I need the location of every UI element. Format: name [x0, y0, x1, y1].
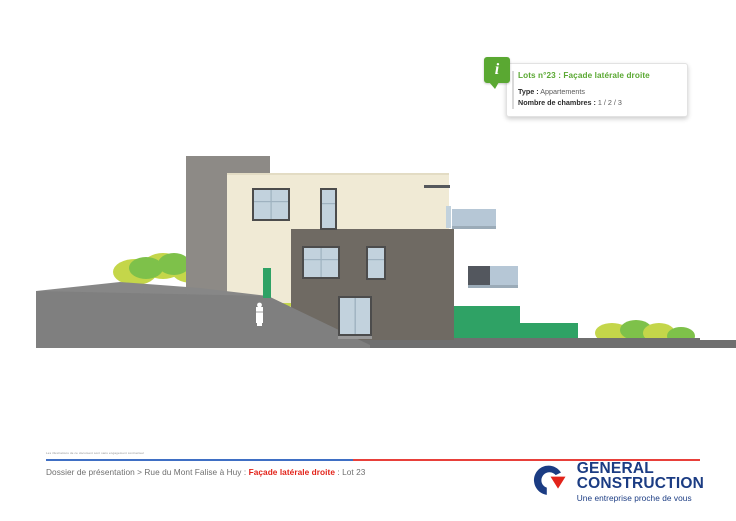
window-mid-right [366, 246, 386, 280]
page-footer: Les illustrations de ce document sont sa… [0, 443, 736, 521]
info-callout[interactable]: i Lots n°23 : Façade latérale droite Typ… [484, 57, 688, 117]
callout-row-type-label: Type : [518, 87, 539, 96]
window-upper-left [252, 188, 290, 221]
breadcrumb-highlight: Façade latérale droite [249, 467, 335, 477]
sliding-door [338, 296, 372, 339]
logo-text: GENERAL CONSTRUCTION Une entreprise proc… [577, 461, 704, 503]
callout-card: Lots n°23 : Façade latérale droite Type … [506, 63, 688, 117]
logo-line-2: CONSTRUCTION [577, 476, 704, 491]
disclaimer-text: Les illustrations de ce document sont sa… [46, 451, 144, 455]
callout-row-type: Type : Appartements [518, 86, 678, 97]
roof-bar [424, 185, 450, 188]
balcony-band-upper [452, 209, 496, 228]
balcony-band-upper-edge [452, 226, 496, 229]
general-construction-logo: GENERAL CONSTRUCTION Une entreprise proc… [531, 461, 704, 503]
logo-mark-icon [531, 464, 571, 500]
document-page: i Lots n°23 : Façade latérale droite Typ… [0, 0, 736, 521]
callout-row-bedrooms-value: 1 / 2 / 3 [596, 98, 622, 107]
callout-row-bedrooms: Nombre de chambres : 1 / 2 / 3 [518, 97, 678, 108]
window-sliver-right [446, 206, 451, 228]
logo-line-1: GENERAL [577, 461, 704, 476]
breadcrumb: Dossier de présentation > Rue du Mont Fa… [46, 467, 365, 477]
callout-row-type-value: Appartements [539, 87, 585, 96]
green-post [263, 268, 271, 298]
callout-pointer [489, 82, 499, 89]
info-icon[interactable]: i [484, 57, 510, 83]
balcony-band-lower-light [490, 266, 518, 287]
balcony-band-lower-dark [468, 266, 490, 287]
balcony-band-lower-edge [468, 285, 518, 288]
breadcrumb-suffix: : Lot 23 [335, 467, 365, 477]
logo-tagline: Une entreprise proche de vous [577, 493, 704, 503]
roof-edge-line [227, 173, 449, 175]
info-icon-glyph: i [484, 57, 510, 83]
callout-title: Lots n°23 : Façade latérale droite [518, 71, 678, 81]
window-upper-right [320, 188, 337, 230]
footer-divider-blue [46, 459, 353, 461]
green-hedge-wall [454, 306, 578, 340]
breadcrumb-prefix: Dossier de présentation > Rue du Mont Fa… [46, 467, 249, 477]
window-mid-left [302, 246, 340, 279]
callout-row-bedrooms-label: Nombre de chambres : [518, 98, 596, 107]
